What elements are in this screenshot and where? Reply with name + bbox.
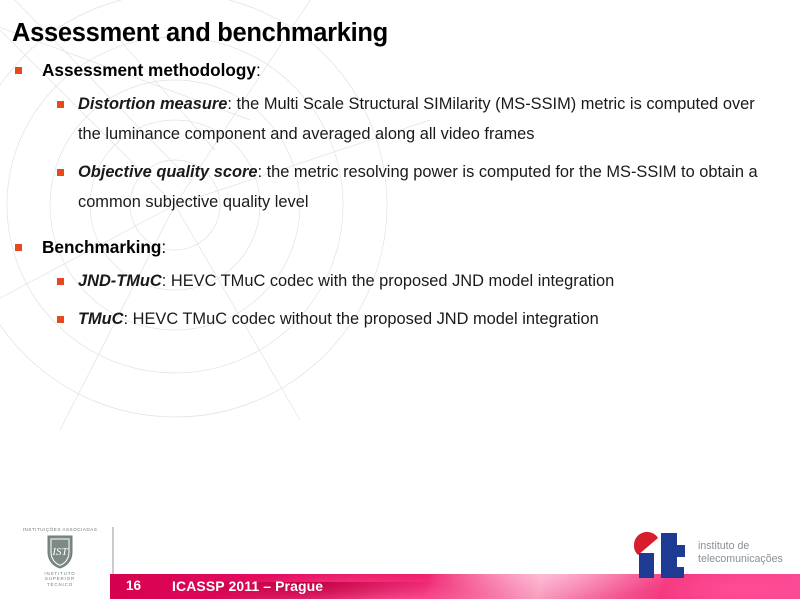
bullet-assessment-methodology: Assessment methodology:: [0, 58, 790, 82]
bullet-square-icon: [57, 169, 64, 176]
bullet-square-icon: [15, 244, 22, 251]
bullet-square-icon: [57, 101, 64, 108]
footer-vertical-divider: [112, 527, 114, 575]
ist-name-label: INSTITUTO SUPERIOR TÉCNICO: [14, 571, 106, 587]
bullet-square-icon: [57, 278, 64, 285]
bullet-objective-quality-score: Objective quality score: the metric reso…: [0, 157, 790, 217]
bullet-tmuc: TMuC: HEVC TMuC codec without the propos…: [0, 304, 790, 334]
bullet-heading-suffix: :: [256, 60, 261, 80]
bullet-body-text: : HEVC TMuC codec without the proposed J…: [124, 310, 599, 328]
bullet-square-icon: [57, 316, 64, 323]
footer-conference-label: ICASSP 2011 – Prague: [172, 578, 323, 594]
slide-canvas: Assessment and benchmarking Assessment m…: [0, 0, 800, 599]
ist-shield-icon: IST: [14, 535, 106, 569]
page-number: 16: [126, 578, 141, 593]
ist-associated-institutions-label: INSTITUIÇÕES ASSOCIADAS: [14, 527, 106, 532]
it-monogram-icon: [630, 531, 692, 579]
bullet-benchmarking: Benchmarking:: [0, 235, 790, 259]
ist-name-line-3: TÉCNICO: [14, 582, 106, 587]
it-wordmark-line-2: telecomunicações: [698, 553, 783, 566]
bullet-lead-term: JND-TMuC: [78, 272, 162, 290]
slide-title: Assessment and benchmarking: [12, 19, 388, 48]
bullet-heading-text: Assessment methodology: [42, 60, 256, 80]
bullet-lead-term: TMuC: [78, 310, 124, 328]
bullet-body-text: : HEVC TMuC codec with the proposed JND …: [162, 272, 614, 290]
bullet-heading-suffix: :: [161, 237, 166, 257]
bullet-jnd-tmuc: JND-TMuC: HEVC TMuC codec with the propo…: [0, 266, 790, 296]
it-wordmark-line-1: instituto de: [698, 540, 783, 553]
section-spacer: [0, 225, 790, 235]
it-wordmark-label: instituto de telecomunicações: [698, 540, 783, 565]
bullet-square-icon: [15, 67, 22, 74]
bullet-lead-term: Distortion measure: [78, 95, 227, 113]
slide-body: Assessment methodology: Distortion measu…: [0, 58, 790, 342]
svg-text:IST: IST: [51, 546, 68, 558]
bullet-lead-term: Objective quality score: [78, 163, 257, 181]
bullet-heading-text: Benchmarking: [42, 237, 161, 257]
bullet-distortion-measure: Distortion measure: the Multi Scale Stru…: [0, 89, 790, 149]
ist-logo: INSTITUIÇÕES ASSOCIADAS IST INSTITUTO SU…: [14, 527, 106, 593]
it-logo: instituto de telecomunicações: [630, 531, 790, 581]
